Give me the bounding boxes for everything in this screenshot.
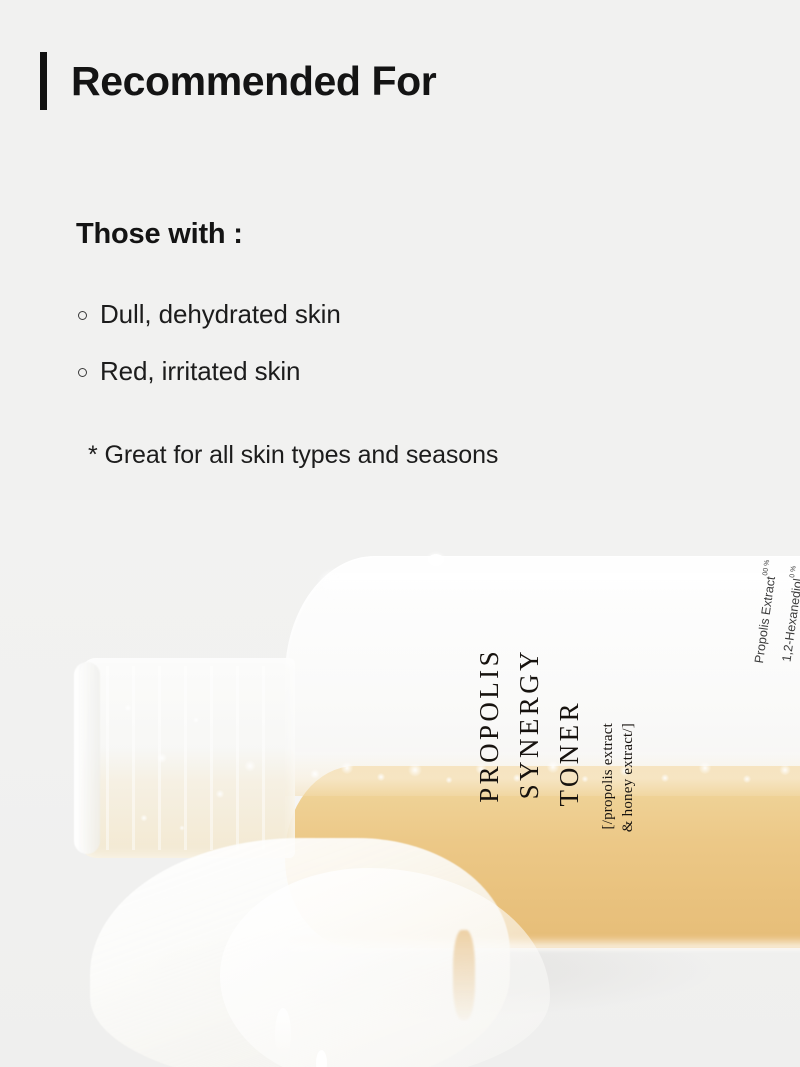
page-title: Recommended For <box>71 61 436 102</box>
bottle-opening-rim <box>74 662 100 854</box>
bullet-circle-icon <box>78 368 87 377</box>
section-heading-row: Recommended For <box>40 52 436 110</box>
product-photo <box>0 500 800 1067</box>
subheading: Those with : <box>76 218 243 251</box>
footnote-text: * Great for all skin types and seasons <box>88 441 498 470</box>
ingredient-percent: 00 % <box>762 559 771 576</box>
bottle-neck-bubbles <box>100 668 290 853</box>
list-item-label: Dull, dehydrated skin <box>100 299 341 330</box>
toner-bottle <box>70 538 800 938</box>
product-label-line-3: TONER <box>554 700 585 807</box>
ingredient-percent: 0 % <box>789 565 798 578</box>
amber-liquid-stream <box>453 930 475 1020</box>
heading-accent-bar <box>40 52 47 110</box>
product-label-line-1: PROPOLIS <box>474 648 505 803</box>
bullet-circle-icon <box>78 311 87 320</box>
list-item: Red, irritated skin <box>78 343 341 400</box>
liquid-droplet <box>275 1008 291 1060</box>
list-item-label: Red, irritated skin <box>100 356 300 387</box>
product-label-line-2: SYNERGY <box>514 648 545 799</box>
recommendation-list: Dull, dehydrated skin Red, irritated ski… <box>78 286 341 400</box>
glass-specular-dot <box>428 554 444 566</box>
product-label-sub-2: & honey extract/] <box>620 723 637 832</box>
list-item: Dull, dehydrated skin <box>78 286 341 343</box>
product-label-sub-1: [/propolis extract <box>600 723 617 829</box>
product-detail-page: Recommended For Those with : Dull, dehyd… <box>0 0 800 1067</box>
glass-highlight <box>320 572 800 598</box>
